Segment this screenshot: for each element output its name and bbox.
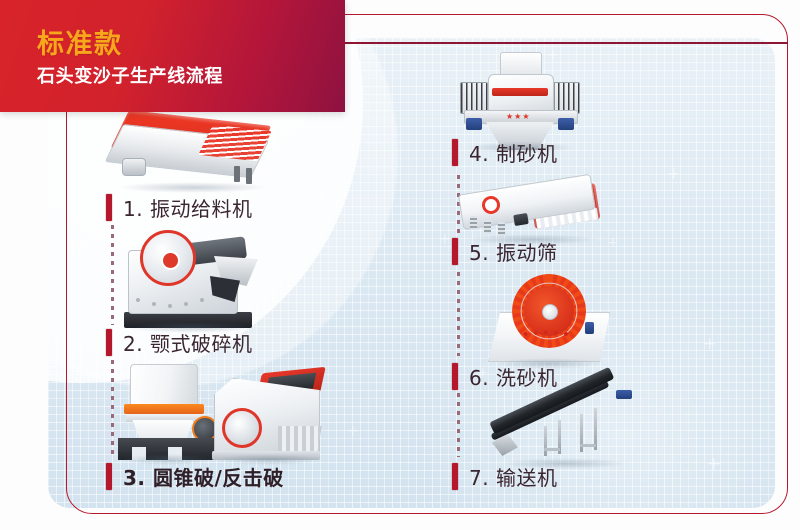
- step-item-5[interactable]: 5. 振动筛: [452, 237, 557, 266]
- jaw-bolt: [136, 298, 140, 302]
- drop-shadow: [118, 182, 268, 193]
- conveyor-brace: [580, 444, 596, 447]
- jaw-flywheel: [140, 230, 196, 286]
- conveyor-leg: [544, 426, 547, 456]
- cone-upper-shell: [130, 364, 198, 406]
- step-marker-bar: [106, 194, 112, 221]
- connector-line-1-2: [111, 225, 114, 325]
- machine-cone-crusher: [116, 362, 220, 460]
- jaw-bolt: [184, 302, 188, 306]
- connector-line-6-7: [457, 393, 460, 457]
- step-label: 3. 圆锥破/反击破: [123, 462, 284, 491]
- step-label: 5. 振动筛: [469, 237, 557, 266]
- machine-impact-crusher: [208, 368, 330, 460]
- step-marker-bar: [452, 363, 458, 390]
- banner-subtitle: 石头变沙子生产线流程: [37, 62, 223, 88]
- jaw-bolt: [168, 304, 172, 308]
- header-banner: 标准款 石头变沙子生产线流程: [0, 0, 345, 112]
- step-item-1[interactable]: 1. 振动给料机: [106, 193, 252, 222]
- step-item-4[interactable]: 4. 制砂机: [452, 138, 557, 167]
- conveyor-head-motor: [616, 390, 632, 399]
- machine-sand-making-machine: ★★★: [458, 52, 582, 148]
- infographic-root: ★★★: [0, 0, 800, 530]
- machine-vibrating-screen: [458, 168, 608, 240]
- feeder-leg: [246, 168, 252, 184]
- conveyor-brace: [544, 448, 560, 451]
- connector-line-2-3: [111, 360, 114, 456]
- vsi-brand-stars: ★★★: [506, 112, 531, 121]
- step-label: 1. 振动给料机: [123, 193, 252, 222]
- machine-jaw-crusher: [118, 228, 266, 328]
- machine-vibrating-feeder: [108, 110, 278, 188]
- vsi-motor: [558, 118, 574, 130]
- step-label: 7. 输送机: [469, 462, 557, 491]
- step-item-3[interactable]: 3. 圆锥破/反击破: [106, 462, 284, 491]
- step-item-7[interactable]: 7. 输送机: [452, 462, 557, 491]
- step-marker-bar: [106, 329, 112, 356]
- step-label: 6. 洗砂机: [469, 362, 557, 391]
- washer-wheel-hub: [542, 304, 558, 320]
- machine-belt-conveyor: [492, 392, 638, 464]
- jaw-bolt: [200, 298, 204, 302]
- machine-sand-washer: [486, 272, 612, 364]
- feeder-leg: [234, 166, 240, 182]
- step-label: 4. 制砂机: [469, 138, 557, 167]
- screen-motor: [513, 213, 529, 226]
- cone-orange-band: [124, 404, 204, 414]
- washer-control-box: [585, 322, 594, 334]
- vsi-brand-band: [492, 88, 548, 96]
- connector-line-5-6: [457, 272, 460, 356]
- impact-discharge: [278, 426, 322, 454]
- impact-flywheel: [222, 408, 262, 448]
- step-marker-bar: [452, 463, 458, 490]
- step-item-6[interactable]: 6. 洗砂机: [452, 362, 557, 391]
- step-marker-bar: [106, 463, 112, 490]
- step-marker-bar: [452, 139, 458, 166]
- header-rule: [330, 42, 788, 44]
- vsi-motor: [466, 118, 482, 130]
- jaw-flywheel-hub: [161, 251, 180, 270]
- step-label: 2. 颚式破碎机: [123, 328, 252, 357]
- step-item-2[interactable]: 2. 颚式破碎机: [106, 328, 252, 357]
- screen-spring: [470, 216, 477, 230]
- banner-title: 标准款: [37, 22, 123, 61]
- washer-brand-mark: [520, 328, 576, 340]
- feeder-motor: [122, 158, 146, 176]
- step-marker-bar: [452, 238, 458, 265]
- jaw-bolt: [152, 302, 156, 306]
- screen-spring: [484, 220, 491, 234]
